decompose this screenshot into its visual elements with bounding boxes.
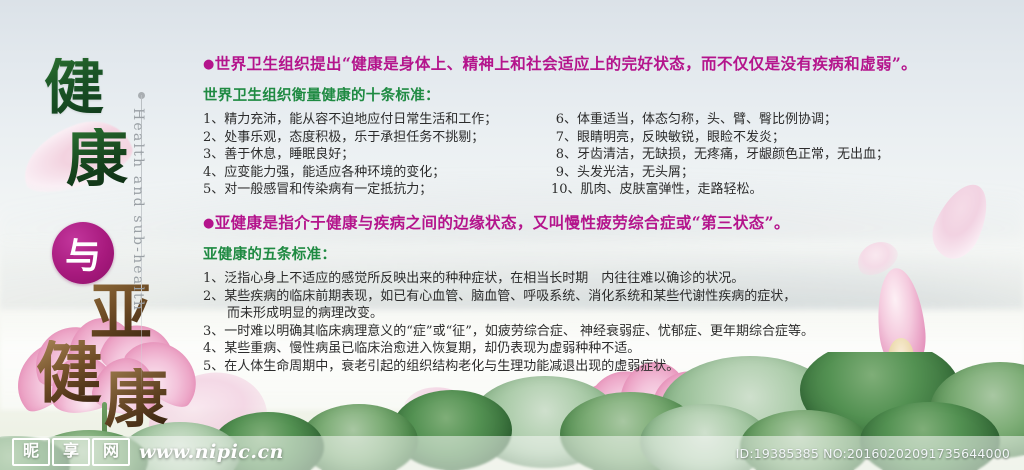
section-1-lead-text: 世界卫生组织提出“健康是身体上、精神上和社会适应上的完好状态，而不仅仅是没有疾病…: [215, 54, 917, 73]
list-item-number: 10、: [551, 181, 581, 199]
list-item: 8、牙齿清洁，无缺损，无疼痛，牙龈颜色正常，无出血；: [551, 146, 1021, 164]
list-item: 10、肌肉、皮肤富弹性，走路轻松。: [551, 181, 1021, 199]
section-1-lead-line: ●世界卫生组织提出“健康是身体上、精神上和社会适应上的完好状态，而不仅仅是没有疾…: [203, 52, 1015, 74]
title-english-subtitle: Health and sub-health: [130, 108, 146, 312]
list-item-number: 7、: [551, 129, 577, 147]
list-item-text: 一时难以明确其临床病理意义的“症”或“征”，如疲劳综合症、 神经衰弱症、忧郁症、…: [224, 324, 814, 339]
title-char-kang-2: 康: [104, 368, 168, 432]
list-item-text: 眼睛明亮，反映敏锐，眼睑不发炎；: [577, 130, 785, 145]
logo-char-2: 享: [52, 438, 90, 466]
bullet-dot-icon: ●: [203, 216, 215, 231]
watermark-id-text: ID:19385385 NO:20160202091735644000: [736, 446, 1010, 461]
section-2-subheading: 亚健康的五条标准：: [203, 243, 1015, 264]
list-item-text: 而未形成明显的病理改变。: [203, 305, 383, 323]
list-item-continuation: 而未形成明显的病理改变。: [203, 305, 1015, 323]
list-item: 6、体重适当，体态匀称，头、臂、臀比例协调；: [551, 111, 1021, 129]
list-item-number: 3、: [203, 323, 224, 341]
section-1-list-left: 1、精力充沛，能从容不迫地应付日常生活和工作； 2、处事乐观，态度积极，乐于承担…: [203, 111, 543, 199]
list-item-text: 体重适当，体态匀称，头、臂、臀比例协调；: [577, 112, 837, 127]
section-1-subheading: 世界卫生组织衡量健康的十条标准：: [203, 84, 1015, 105]
list-item: 7、眼睛明亮，反映敏锐，眼睑不发炎；: [551, 129, 1021, 147]
list-item-number: 2、: [203, 288, 224, 306]
list-item-number: 5、: [203, 358, 224, 376]
title-char-kang-1: 康: [66, 128, 128, 190]
list-item-number: 9、: [551, 164, 577, 182]
list-item-text: 善于休息，睡眠良好；: [224, 147, 354, 162]
list-item: 5、对一般感冒和传染病有一定抵抗力；: [203, 181, 543, 199]
logo-char-1: 昵: [12, 438, 50, 466]
section-2-lead-line: ●亚健康是指介于健康与疾病之间的边缘状态，又叫慢性疲劳综合症或“第三状态”。: [203, 211, 1015, 233]
list-item-text: 处事乐观，态度积极，乐于承担任务不挑剔；: [224, 130, 484, 145]
list-item-text: 某些重病、慢性病虽已临床治愈进入恢复期，却仍表现为虚弱种种不适。: [224, 341, 640, 356]
list-item-text: 牙齿清洁，无缺损，无疼痛，牙龈颜色正常，无出血；: [577, 147, 889, 162]
list-item-number: 1、: [203, 270, 224, 288]
title-char-jian-2: 健: [36, 340, 102, 406]
list-item: 5、在人体生命周期中，衰老引起的组织结构老化与生理功能减退出现的虚弱症状。: [203, 358, 1015, 376]
list-item-text: 应变能力强，能适应各种环境的变化；: [224, 165, 445, 180]
list-item-number: 6、: [551, 111, 577, 129]
list-item-text: 精力充沛，能从容不迫地应付日常生活和工作；: [224, 112, 497, 127]
title-artwork: 健 康 与 亚 健 康 Health and sub-health: [0, 0, 205, 470]
title-char-yu-badge: 与: [52, 222, 114, 284]
list-item: 9、头发光洁，无头屑；: [551, 164, 1021, 182]
list-item: 1、精力充沛，能从容不迫地应付日常生活和工作；: [203, 111, 543, 129]
list-item-text: 泛指心身上不适应的感觉所反映出来的种种症状，在相当长时期 内往往难以确诊的状况。: [224, 271, 744, 286]
list-item-text: 对一般感冒和传染病有一定抵抗力；: [224, 182, 432, 197]
list-item: 3、一时难以明确其临床病理意义的“症”或“征”，如疲劳综合症、 神经衰弱症、忧郁…: [203, 323, 1015, 341]
list-item: 4、应变能力强，能适应各种环境的变化；: [203, 164, 543, 182]
list-item: 2、处事乐观，态度积极，乐于承担任务不挑剔；: [203, 129, 543, 147]
watermark-bar: 昵 享 网 www.nipic.cn ID:19385385 NO:201602…: [0, 436, 1024, 470]
bullet-dot-icon: ●: [203, 57, 215, 72]
list-item-number: 8、: [551, 146, 577, 164]
section-2-lead-text: 亚健康是指介于健康与疾病之间的边缘状态，又叫慢性疲劳综合症或“第三状态”。: [215, 213, 790, 232]
title-char-jian-1: 健: [44, 58, 104, 118]
list-item: 4、某些重病、慢性病虽已临床治愈进入恢复期，却仍表现为虚弱种种不适。: [203, 340, 1015, 358]
watermark-brand: 昵 享 网 www.nipic.cn: [12, 438, 284, 466]
list-item-text: 肌肉、皮肤富弹性，走路轻松。: [581, 182, 763, 197]
section-sub-health: ●亚健康是指介于健康与疾病之间的边缘状态，又叫慢性疲劳综合症或“第三状态”。 亚…: [203, 211, 1015, 376]
list-item-number: 5、: [203, 181, 224, 199]
title-char-yu: 与: [52, 227, 114, 279]
list-item: 3、善于休息，睡眠良好；: [203, 146, 543, 164]
list-item: 1、泛指心身上不适应的感觉所反映出来的种种症状，在相当长时期 内往往难以确诊的状…: [203, 270, 1015, 288]
content-column: ●世界卫生组织提出“健康是身体上、精神上和社会适应上的完好状态，而不仅仅是没有疾…: [203, 52, 1015, 376]
section-2-list: 1、泛指心身上不适应的感觉所反映出来的种种症状，在相当长时期 内往往难以确诊的状…: [203, 270, 1015, 376]
poster-canvas: 健 康 与 亚 健 康 Health and sub-health ●世界卫生组…: [0, 0, 1024, 470]
logo-char-3: 网: [92, 438, 130, 466]
nipic-logo-icon: 昵 享 网: [12, 438, 130, 466]
list-item: 2、某些疾病的临床前期表现，如已有心血管、脑血管、呼吸系统、消化系统和某些代谢性…: [203, 288, 1015, 306]
section-who-health: ●世界卫生组织提出“健康是身体上、精神上和社会适应上的完好状态，而不仅仅是没有疾…: [203, 52, 1015, 199]
watermark-url[interactable]: www.nipic.cn: [139, 441, 284, 463]
list-item-number: 4、: [203, 340, 224, 358]
list-item-text: 在人体生命周期中，衰老引起的组织结构老化与生理功能减退出现的虚弱症状。: [224, 359, 679, 374]
list-item-number: 3、: [203, 146, 224, 164]
list-item-number: 2、: [203, 129, 224, 147]
list-item-text: 某些疾病的临床前期表现，如已有心血管、脑血管、呼吸系统、消化系统和某些代谢性疾病…: [224, 289, 796, 304]
list-item-number: 4、: [203, 164, 224, 182]
list-item-text: 头发光洁，无头屑；: [577, 165, 694, 180]
section-1-lists: 1、精力充沛，能从容不迫地应付日常生活和工作； 2、处事乐观，态度积极，乐于承担…: [203, 111, 1015, 199]
list-item-number: 1、: [203, 111, 224, 129]
section-1-list-right: 6、体重适当，体态匀称，头、臂、臀比例协调； 7、眼睛明亮，反映敏锐，眼睑不发炎…: [543, 111, 1021, 199]
